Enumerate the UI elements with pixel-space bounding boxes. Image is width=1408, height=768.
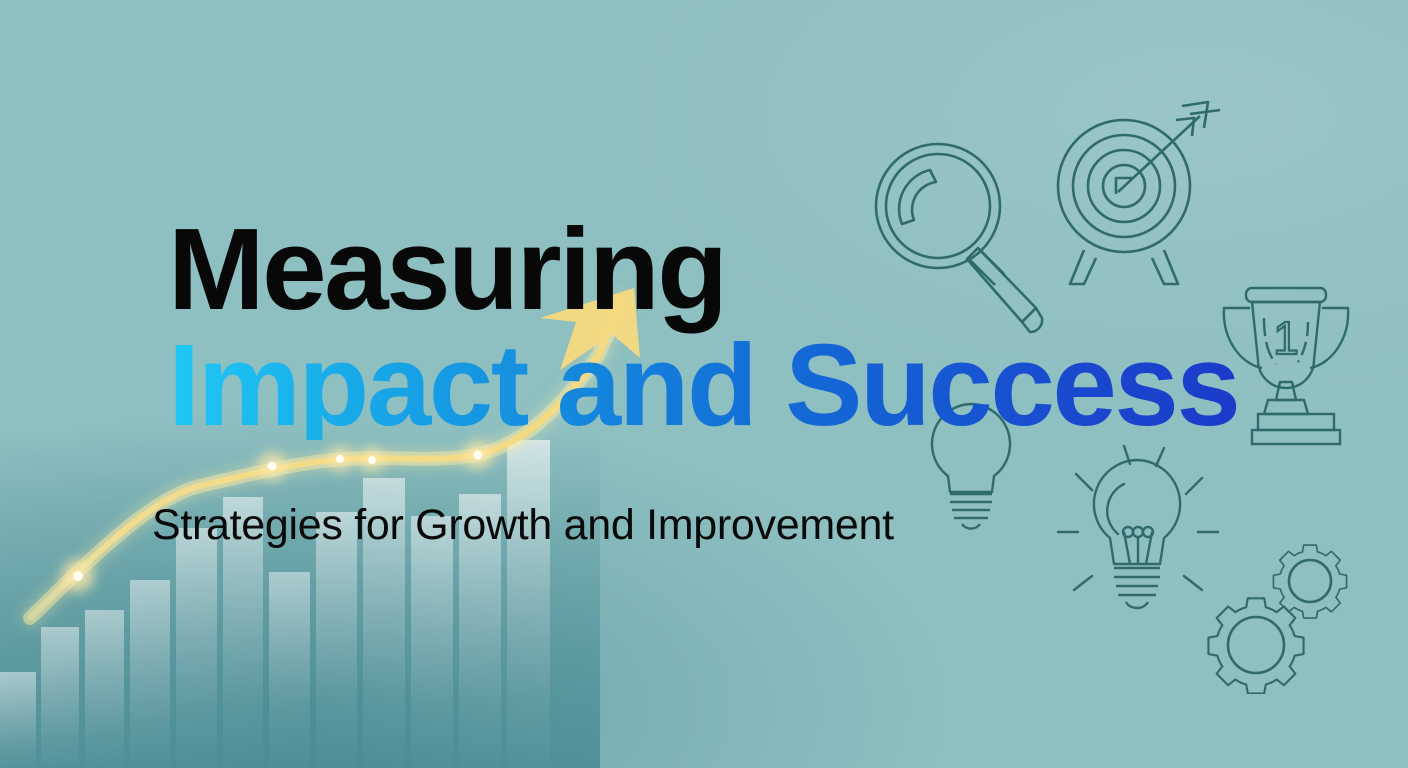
lightbulb-rays-icon (1052, 438, 1222, 628)
subtitle: Strategies for Growth and Improvement (152, 501, 894, 550)
poster-canvas: 1 (0, 0, 1408, 768)
page-title: Measuring Impact and Success (168, 214, 1348, 440)
title-line-1: Measuring (168, 214, 1348, 324)
chart-bar (0, 672, 36, 768)
gears-icon (1198, 524, 1368, 694)
title-line-2: Impact and Success (168, 330, 1348, 440)
